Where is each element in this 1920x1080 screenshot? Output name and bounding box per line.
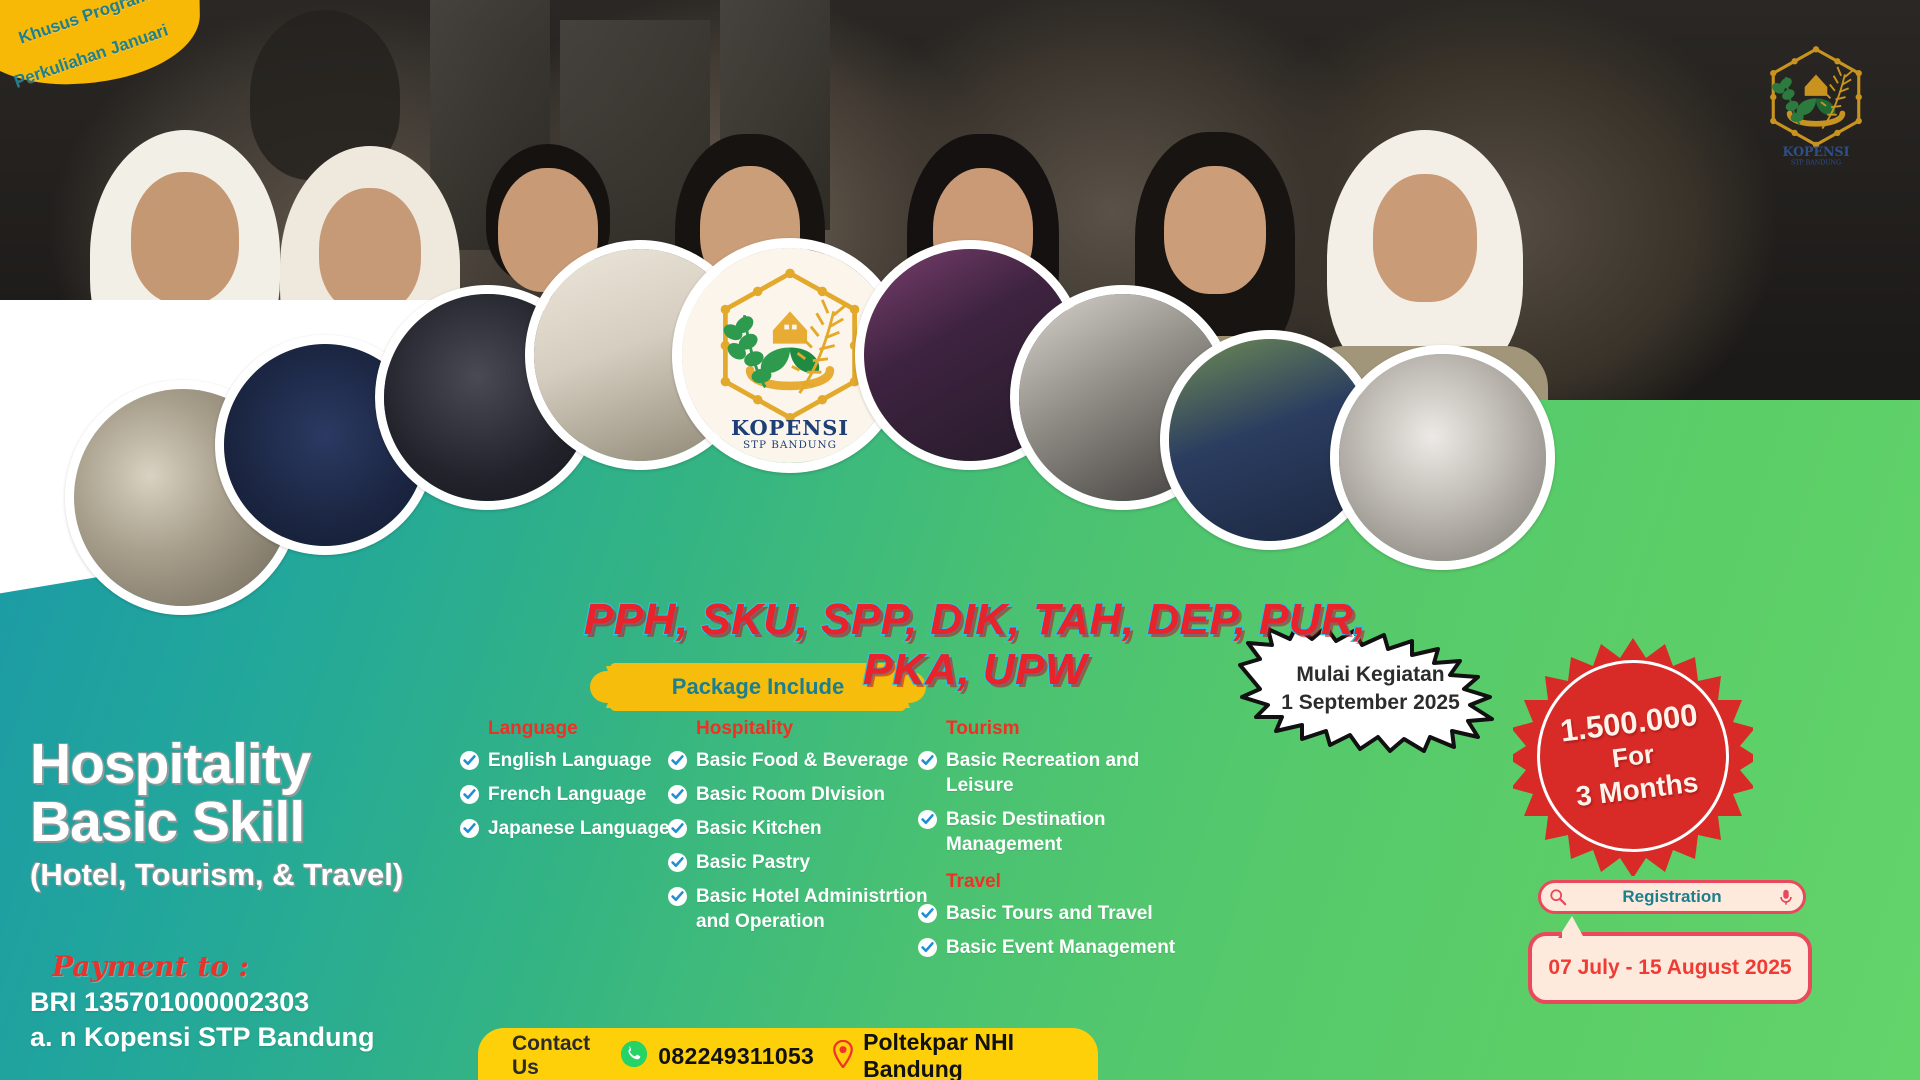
language-list: English Language French Language Japanes… xyxy=(460,748,690,841)
item-label: Basic Hotel Administrtion and Operation xyxy=(696,886,928,932)
list-item: Basic Destination Management xyxy=(918,807,1178,857)
title-line-1: Hospitality xyxy=(30,735,470,793)
title-line-2: Basic Skill xyxy=(30,793,470,851)
program-codes-headline: PPH, SKU, SPP, DIK, TAH, DEP, PUR, PKA, … xyxy=(535,595,1415,695)
page-title: Hospitality Basic Skill (Hotel, Tourism,… xyxy=(30,735,470,893)
search-icon[interactable] xyxy=(1541,888,1575,906)
item-label: English Language xyxy=(488,750,652,771)
brand-logo-topright: KOPENSI STP BANDUNG xyxy=(1750,38,1882,170)
column-heading: Language xyxy=(488,718,690,740)
item-label: Basic Tours and Travel xyxy=(946,903,1153,924)
check-icon xyxy=(918,751,937,770)
whatsapp-group[interactable]: 082249311053 xyxy=(619,1039,814,1074)
item-label: Basic Room DIvision xyxy=(696,784,885,805)
travel-list: Basic Tours and Travel Basic Event Manag… xyxy=(918,901,1178,960)
face xyxy=(1164,166,1266,294)
list-item: Basic Kitchen xyxy=(668,816,938,841)
column-heading: Tourism xyxy=(946,718,1178,740)
list-item: Basic Room DIvision xyxy=(668,782,938,807)
brand-name: KOPENSI xyxy=(1783,144,1850,159)
whatsapp-icon[interactable] xyxy=(619,1039,649,1074)
contact-bar: Contact Us 082249311053 Poltekpar NHI Ba… xyxy=(478,1028,1098,1080)
check-icon xyxy=(918,938,937,957)
title-subtitle: (Hotel, Tourism, & Travel) xyxy=(30,857,470,893)
list-item: French Language xyxy=(460,782,690,807)
svg-text:KOPENSI: KOPENSI xyxy=(730,414,848,439)
poster-root: KOPENSI STP BANDUNG xyxy=(0,0,1920,1080)
brand-sub: STP BANDUNG xyxy=(1791,159,1841,166)
registration-dates-bubble: 07 July - 15 August 2025 xyxy=(1528,932,1812,1004)
location-group: Poltekpar NHI Bandung xyxy=(832,1029,1064,1080)
registration-search-bar[interactable]: Registration xyxy=(1538,880,1806,914)
list-item: Basic Pastry xyxy=(668,850,938,875)
check-icon xyxy=(918,904,937,923)
face xyxy=(131,172,239,304)
item-label: Basic Event Management xyxy=(946,937,1175,958)
face xyxy=(319,188,421,314)
list-item: Basic Hotel Administrtion and Operation xyxy=(668,884,938,934)
item-label: French Language xyxy=(488,784,646,805)
price-badge: 1.500.000 For 3 Months xyxy=(1513,636,1753,876)
check-icon xyxy=(668,819,687,838)
column-tourism-travel: Tourism Basic Recreation and Leisure Bas… xyxy=(918,718,1178,969)
list-item: Basic Food & Beverage xyxy=(668,748,938,773)
payment-info: Payment to : BRI 135701000002303 a. n Ko… xyxy=(30,950,375,1055)
check-icon xyxy=(668,887,687,906)
list-item: Basic Tours and Travel xyxy=(918,901,1178,926)
list-item: Japanese Language xyxy=(460,816,690,841)
check-icon xyxy=(668,785,687,804)
item-label: Basic Pastry xyxy=(696,852,810,873)
column-heading-travel: Travel xyxy=(946,871,1178,893)
price-text: 1.500.000 For 3 Months xyxy=(1499,622,1766,889)
registration-dates: 07 July - 15 August 2025 xyxy=(1548,956,1791,980)
tourism-list: Basic Recreation and Leisure Basic Desti… xyxy=(918,748,1178,857)
check-icon xyxy=(918,810,937,829)
circle-photo-lab xyxy=(1330,345,1555,570)
kopensi-logo-icon: KOPENSI STP BANDUNG xyxy=(1750,38,1882,170)
hospitality-list: Basic Food & Beverage Basic Room DIvisio… xyxy=(668,748,938,934)
check-icon xyxy=(668,853,687,872)
payment-label: Payment to : xyxy=(52,950,375,983)
item-label: Basic Kitchen xyxy=(696,818,822,839)
svg-text:STP BANDUNG: STP BANDUNG xyxy=(743,439,837,451)
contact-location: Poltekpar NHI Bandung xyxy=(863,1029,1064,1080)
item-label: Basic Food & Beverage xyxy=(696,750,908,771)
list-item: Basic Recreation and Leisure xyxy=(918,748,1178,798)
list-item: Basic Event Management xyxy=(918,935,1178,960)
location-pin-icon xyxy=(832,1040,854,1073)
badge-text: Khusus ProgramPerkuliahan Januari xyxy=(1,0,171,75)
price-duration: 3 Months xyxy=(1574,765,1700,813)
check-icon xyxy=(668,751,687,770)
list-item: English Language xyxy=(460,748,690,773)
item-label: Japanese Language xyxy=(488,818,670,839)
face xyxy=(1373,174,1477,302)
contact-label: Contact Us xyxy=(512,1032,601,1080)
price-for: For xyxy=(1610,738,1656,775)
item-label: Basic Destination Management xyxy=(946,809,1105,855)
column-hospitality: Hospitality Basic Food & Beverage Basic … xyxy=(668,718,938,943)
registration-label: Registration xyxy=(1575,887,1769,907)
payment-account: BRI 135701000002303 xyxy=(30,985,375,1020)
item-label: Basic Recreation and Leisure xyxy=(946,750,1139,796)
payment-holder: a. n Kopensi STP Bandung xyxy=(30,1020,375,1055)
column-heading: Hospitality xyxy=(696,718,938,740)
contact-phone: 082249311053 xyxy=(658,1043,814,1070)
microphone-icon[interactable] xyxy=(1769,888,1803,906)
column-language: Language English Language French Languag… xyxy=(460,718,690,850)
